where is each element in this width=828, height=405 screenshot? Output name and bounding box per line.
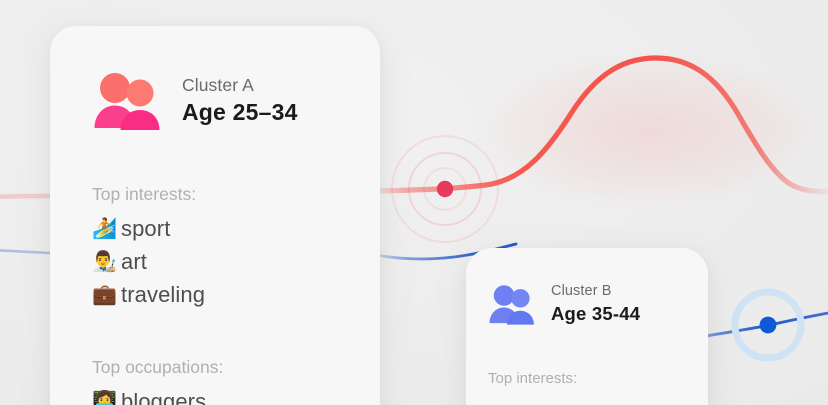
list-item-label: sport — [121, 216, 170, 242]
list-item-label: art — [121, 249, 147, 275]
cluster-b-header: Cluster B Age 35-44 — [466, 248, 708, 326]
cluster-a-name: Cluster A — [182, 75, 298, 95]
blue-trend-curve-left — [0, 250, 50, 253]
cluster-a-header: Cluster A Age 25–34 — [50, 26, 380, 132]
cluster-a-age: Age 25–34 — [182, 99, 298, 127]
cluster-a-card[interactable]: Cluster A Age 25–34 Top interests: 🏄 spo… — [50, 26, 380, 405]
dashboard-canvas: Cluster B Age 35-44 Top interests: Clust… — [0, 0, 828, 405]
cluster-a-occupations-section: Top occupations: 👩‍💻 bloggers — [50, 357, 380, 405]
surfer-emoji: 🏄 — [92, 219, 121, 239]
cluster-a-occupations-label: Top occupations: — [50, 357, 380, 378]
artist-emoji: 👨‍🎨 — [92, 252, 121, 272]
cluster-a-occupations-list: 👩‍💻 bloggers — [50, 385, 380, 405]
blue-data-point-marker[interactable] — [760, 317, 777, 334]
list-item[interactable]: 🏄 sport — [50, 212, 380, 245]
cluster-a-interests-section: Top interests: 🏄 sport 👨‍🎨 art 💼 traveli… — [50, 184, 380, 311]
list-item-label: bloggers — [121, 389, 206, 405]
list-item[interactable]: 👩‍💻 bloggers — [50, 385, 380, 405]
cluster-b-head-text: Cluster B Age 35-44 — [551, 283, 640, 325]
briefcase-emoji: 💼 — [92, 285, 121, 305]
list-item[interactable]: 💼 traveling — [50, 278, 380, 311]
red-data-point-marker[interactable] — [437, 181, 453, 197]
cluster-b-interests-section: Top interests: — [466, 370, 708, 388]
cluster-b-name: Cluster B — [551, 283, 640, 300]
cluster-b-interests-label: Top interests: — [466, 370, 708, 388]
cluster-b-age: Age 35-44 — [551, 303, 640, 325]
person-with-laptop-emoji: 👩‍💻 — [92, 392, 121, 405]
cluster-a-interests-label: Top interests: — [50, 184, 380, 205]
cluster-b-card[interactable]: Cluster B Age 35-44 Top interests: — [466, 248, 708, 405]
two-people-icon — [488, 282, 540, 326]
cluster-a-head-text: Cluster A Age 25–34 — [182, 75, 298, 127]
list-item[interactable]: 👨‍🎨 art — [50, 245, 380, 278]
cluster-a-interests-list: 🏄 sport 👨‍🎨 art 💼 traveling — [50, 212, 380, 311]
list-item-label: traveling — [121, 282, 205, 308]
red-curve-glow — [475, 52, 825, 208]
two-people-icon — [94, 70, 166, 132]
